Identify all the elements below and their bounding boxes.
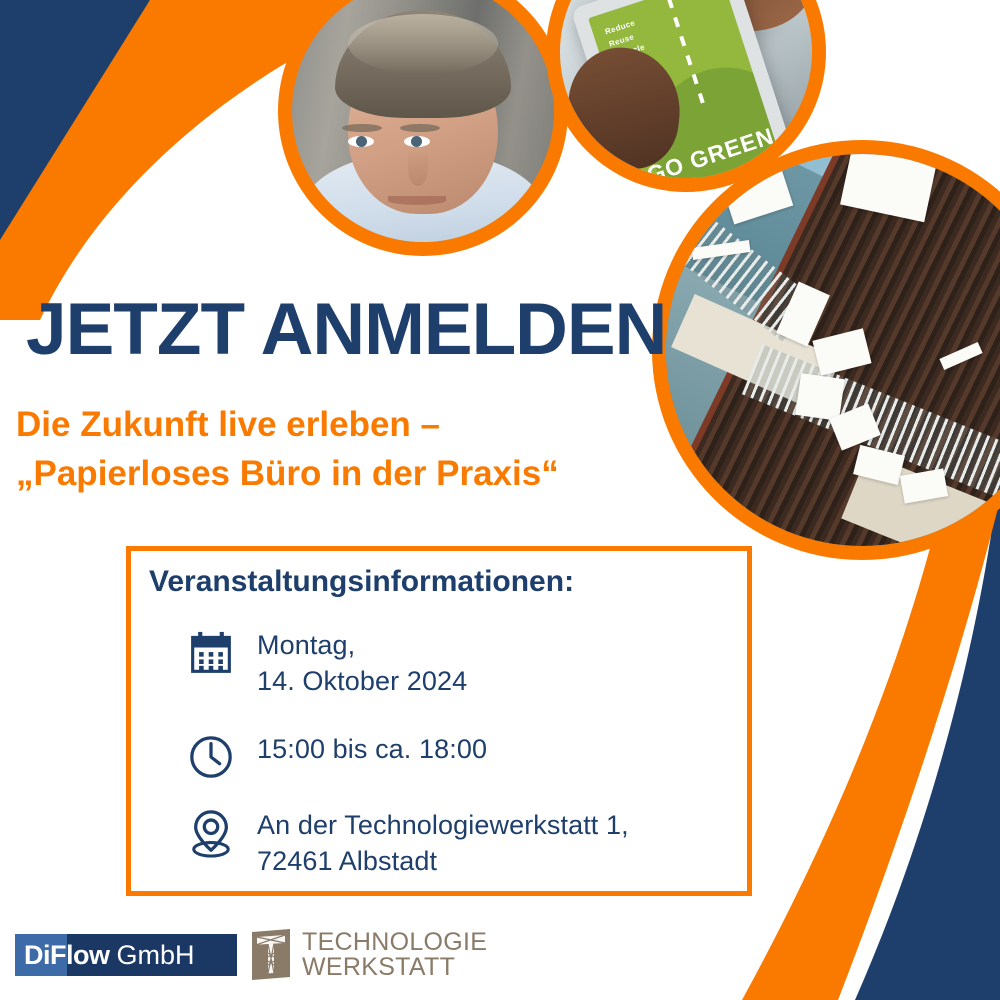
info-row-date-text: Montag, 14. Oktober 2024 — [257, 627, 467, 699]
info-date-line-2: 14. Oktober 2024 — [257, 663, 467, 699]
diflow-logo: DiFlowGmbH — [15, 934, 237, 976]
info-row-location-text: An der Technologiewerkstatt 1, 72461 Alb… — [257, 807, 629, 879]
info-location-line-1: An der Technologiewerkstatt 1, — [257, 807, 629, 843]
calendar-icon — [187, 627, 235, 679]
info-time-line-1: 15:00 bis ca. 18:00 — [257, 731, 487, 767]
location-pin-icon — [187, 807, 235, 859]
info-row-time: 15:00 bis ca. 18:00 — [187, 731, 487, 783]
tablet-photo: Reduce Reuse Recycle GO GREEN — [560, 0, 812, 178]
technologiewerkstatt-logo: TECHNOLOGIE WERKSTATT — [249, 928, 487, 982]
subtitle-line-1: Die Zukunft live erleben – — [16, 400, 559, 449]
tw-logo-line-2: WERKSTATT — [302, 955, 487, 980]
technologiewerkstatt-mark-icon — [249, 928, 293, 982]
diflow-logo-bold: DiFlow — [24, 940, 110, 970]
subtitle-line-2: „Papierloses Büro in der Praxis“ — [16, 449, 559, 498]
event-info-title: Veranstaltungsinformationen: — [149, 565, 574, 599]
building-photo — [666, 154, 1000, 546]
tw-logo-line-1: TECHNOLOGIE — [302, 930, 487, 955]
info-location-line-2: 72461 Albstadt — [257, 843, 629, 879]
info-date-line-1: Montag, — [257, 627, 467, 663]
poster-canvas: Reduce Reuse Recycle GO GREEN JETZT ANME… — [0, 0, 1000, 1000]
technologiewerkstatt-logo-text: TECHNOLOGIE WERKSTATT — [302, 930, 487, 980]
page-subtitle: Die Zukunft live erleben – „Papierloses … — [16, 400, 559, 498]
diflow-logo-thin: GmbH — [117, 940, 195, 970]
info-row-location: An der Technologiewerkstatt 1, 72461 Alb… — [187, 807, 629, 879]
diflow-logo-text: DiFlowGmbH — [15, 940, 195, 971]
info-row-date: Montag, 14. Oktober 2024 — [187, 627, 467, 699]
event-info-box: Veranstaltungsinformationen: Montag, — [126, 546, 752, 896]
page-title: JETZT ANMELDEN — [26, 291, 666, 369]
info-row-time-text: 15:00 bis ca. 18:00 — [257, 731, 487, 767]
clock-icon — [187, 731, 235, 783]
portrait-photo — [292, 0, 554, 242]
